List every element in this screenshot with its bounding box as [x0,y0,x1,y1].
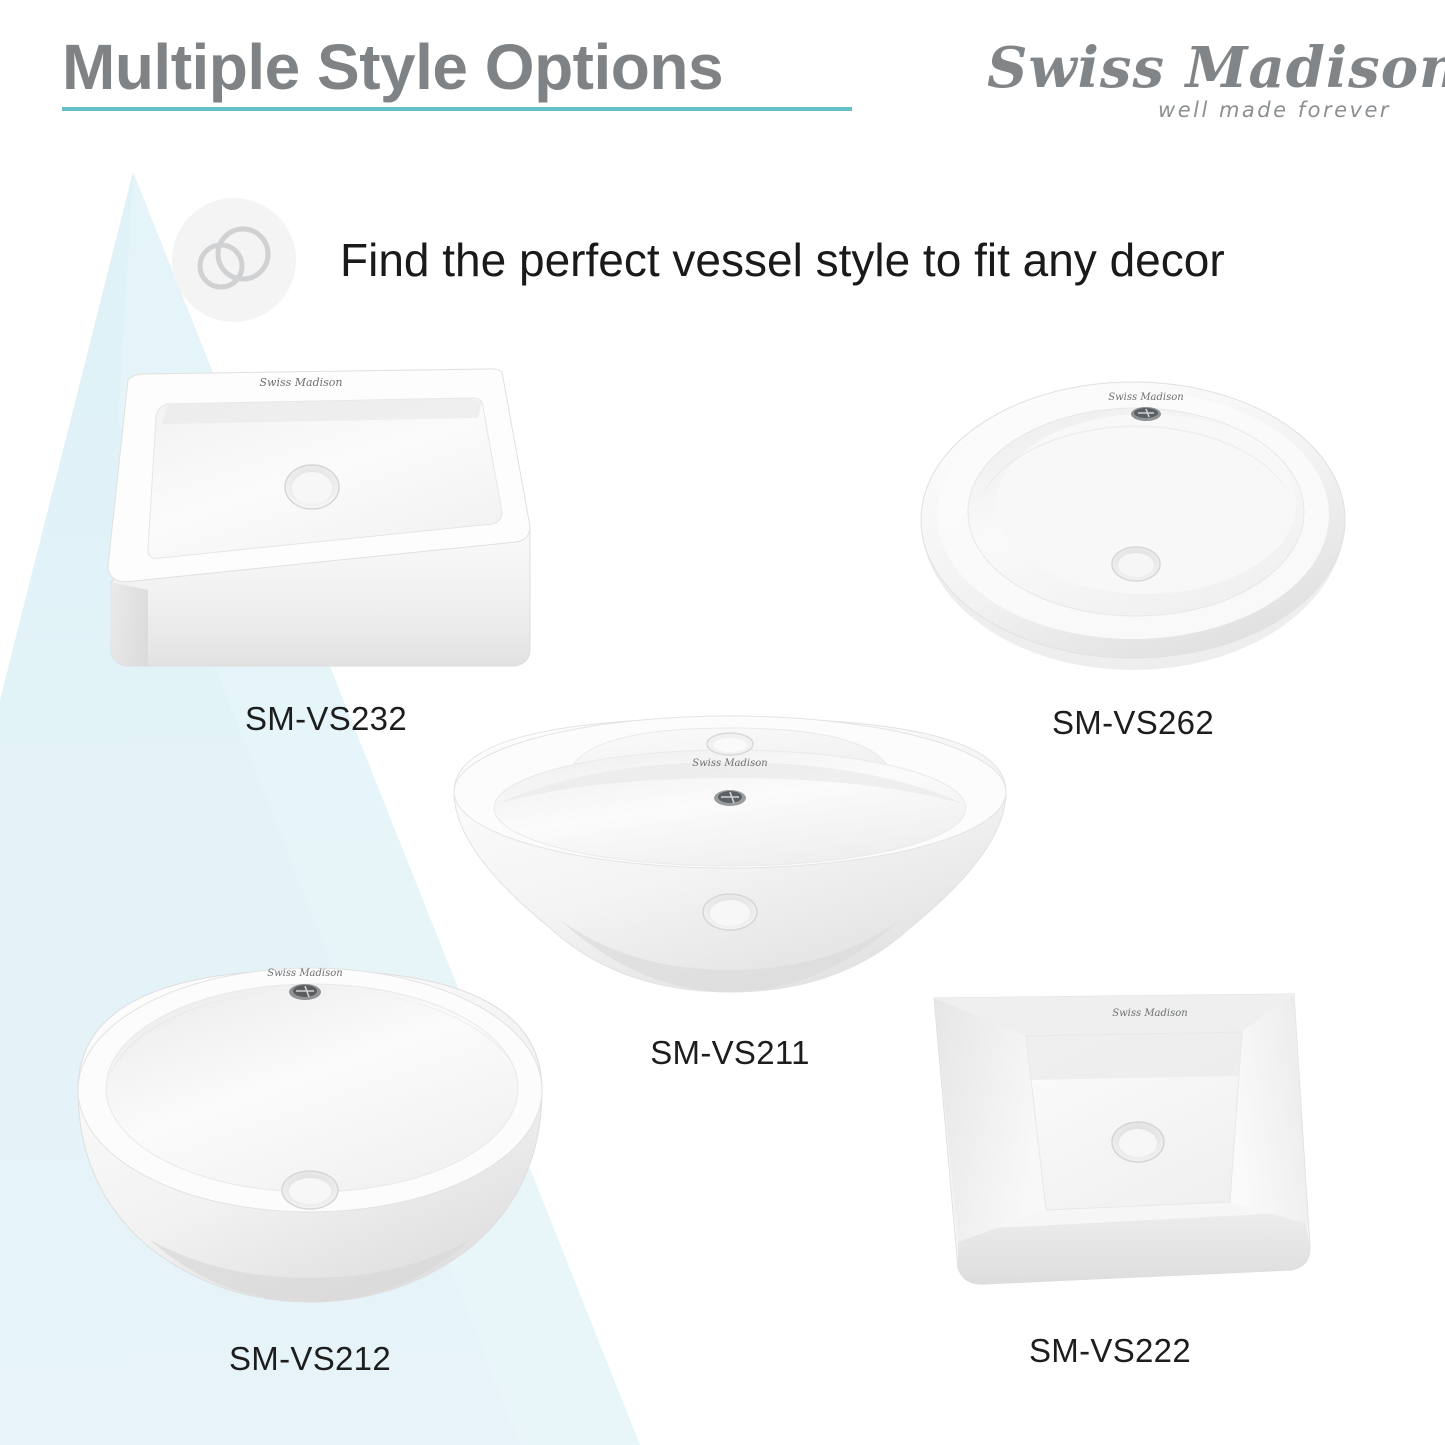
brand-tagline: well made forever [987,98,1397,122]
title-block: Multiple Style Options [62,34,852,111]
product-tile-vs212[interactable]: Swiss Madison SM-VS212 [60,940,560,1378]
subtitle-icon-badge [172,198,296,322]
sink-brand-mark: Swiss Madison [260,376,343,389]
brand-name-label: Swiss Madison [987,35,1445,101]
round-rolled-rim-vessel-sink-icon: Swiss Madison [908,372,1358,682]
product-tile-vs222[interactable]: Swiss Madison SM-VS222 [900,980,1320,1370]
square-vessel-sink-icon: Swiss Madison [96,352,556,682]
title-underline [62,107,852,111]
page-header: Multiple Style Options Swiss Madison® we… [0,0,1445,160]
two-overlapping-circles-icon [191,224,277,296]
brand-logo: Swiss Madison® well made forever [987,40,1397,140]
brand-name-text: Swiss Madison® [987,40,1397,96]
tapered-square-vessel-sink-icon: Swiss Madison [900,980,1320,1310]
product-label-vs222: SM-VS222 [900,1332,1320,1370]
sink-brand-mark: Swiss Madison [267,968,342,979]
product-image-vs222: Swiss Madison [900,980,1320,1310]
product-image-vs232: Swiss Madison [96,352,556,682]
product-image-vs262: Swiss Madison [908,372,1358,682]
sink-brand-mark: Swiss Madison [692,758,767,769]
sink-brand-mark: Swiss Madison [1108,392,1183,403]
subtitle-row: Find the perfect vessel style to fit any… [172,198,1225,322]
product-image-vs212: Swiss Madison [60,940,560,1320]
product-label-vs212: SM-VS212 [60,1340,560,1378]
subtitle-text: Find the perfect vessel style to fit any… [340,233,1225,287]
sink-brand-mark: Swiss Madison [1112,1008,1187,1019]
infographic-page: Multiple Style Options Swiss Madison® we… [0,0,1445,1445]
product-tile-vs262[interactable]: Swiss Madison SM-VS262 [908,372,1358,742]
page-title: Multiple Style Options [62,34,852,101]
product-tile-vs232[interactable]: Swiss Madison SM-VS232 [96,352,556,738]
round-bowl-vessel-sink-icon: Swiss Madison [60,940,560,1320]
